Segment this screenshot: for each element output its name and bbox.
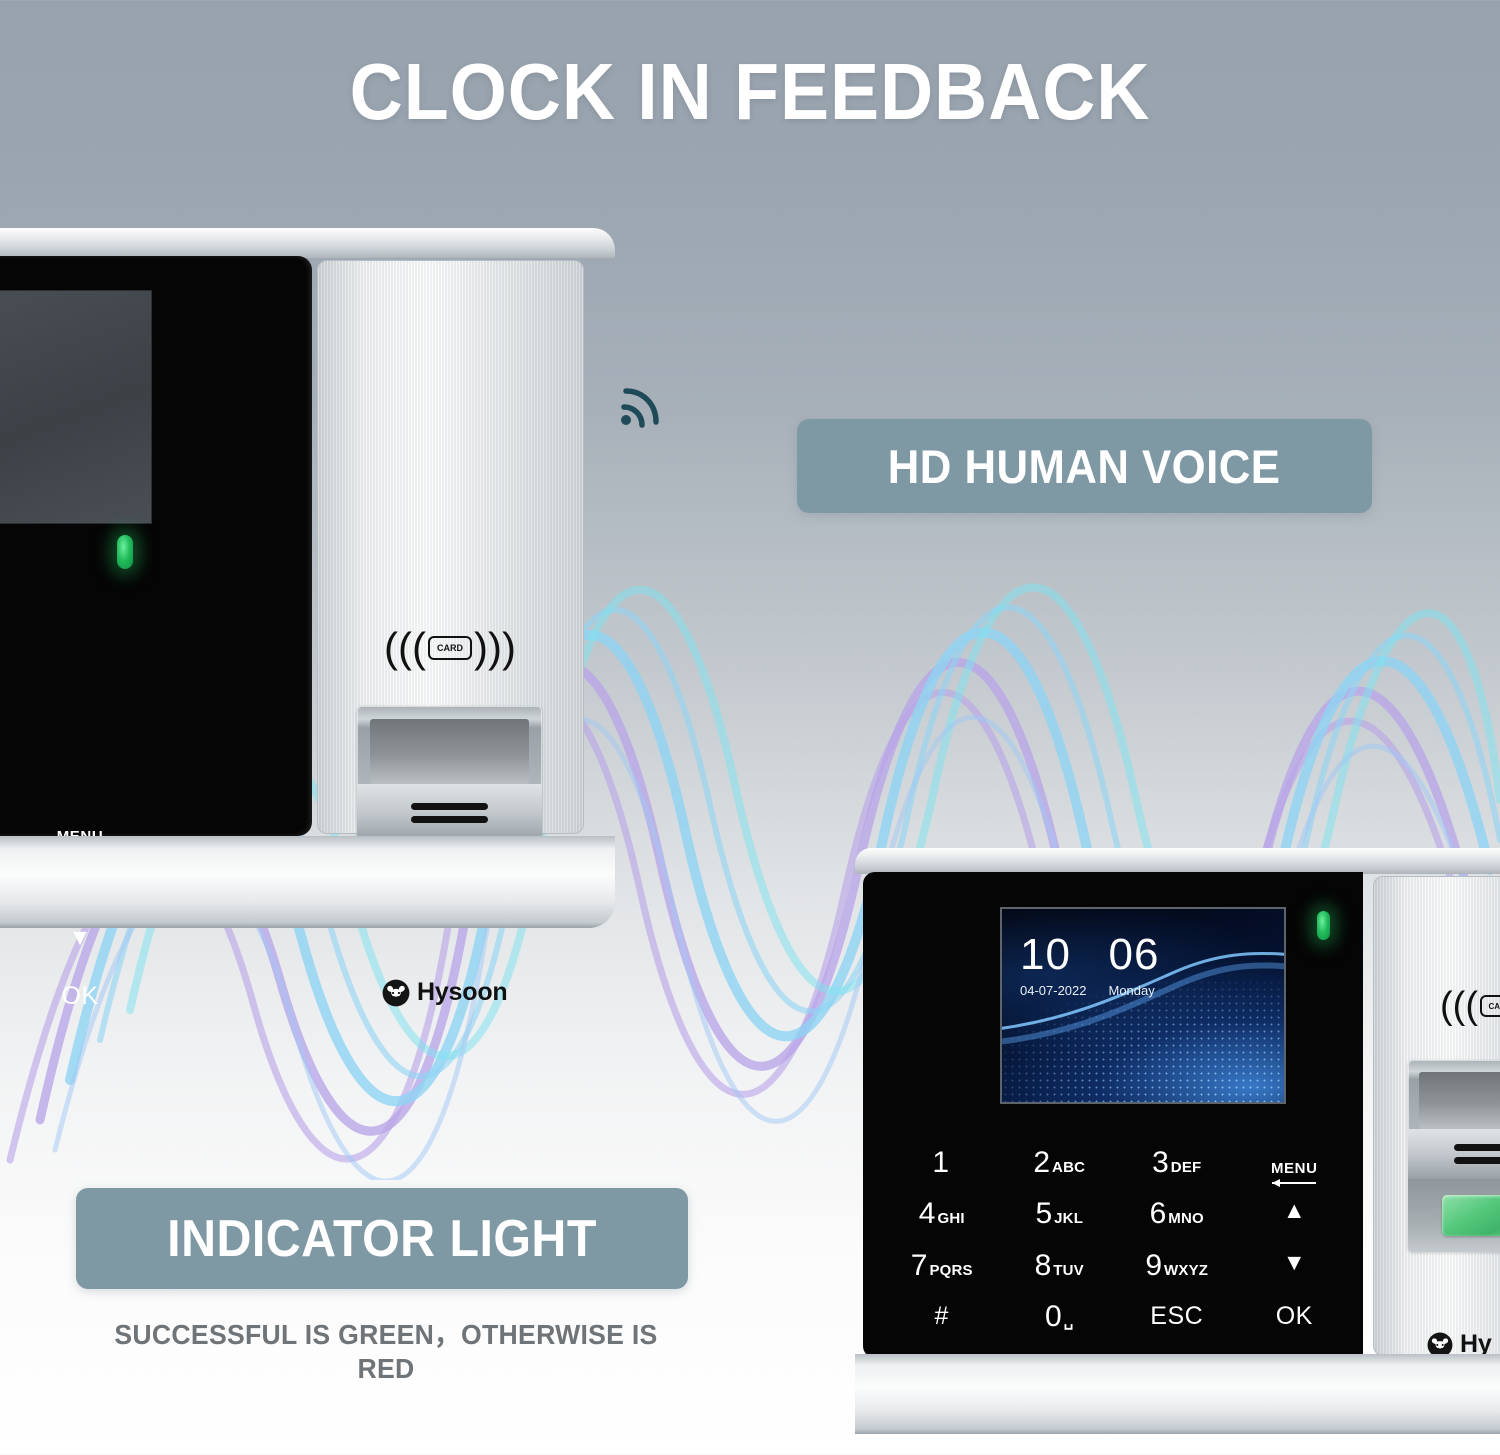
card-chip-icon: CARD bbox=[428, 636, 472, 660]
device-bottom-bezel-right bbox=[855, 1354, 1500, 1434]
indicator-light-caption: SUCCESSFUL IS GREEN，OTHERWISE IS RED bbox=[76, 1313, 696, 1385]
status-led-right bbox=[1317, 911, 1330, 940]
device-bottom-bezel-left bbox=[0, 836, 615, 928]
fp-upper-recess bbox=[1419, 1072, 1500, 1130]
page-title: CLOCK IN FEEDBACK bbox=[60, 52, 1440, 132]
key-esc[interactable]: ESC bbox=[1118, 1302, 1236, 1353]
lcd-date: 04-07-2022 bbox=[1020, 984, 1087, 997]
key-5[interactable]: 5JKL bbox=[1001, 1199, 1119, 1250]
key-9[interactable]: 9WXYZ bbox=[0, 926, 10, 982]
key-0[interactable]: 0␣ bbox=[1001, 1302, 1119, 1353]
triangle-up-icon: ▲ bbox=[1283, 1199, 1306, 1222]
sound-wave-icon bbox=[612, 376, 674, 436]
card-arc-left-icon: ((( bbox=[1440, 985, 1478, 1028]
speaker-slots bbox=[1408, 1129, 1500, 1179]
lcd-weekday: Monday bbox=[1109, 984, 1160, 997]
speaker-slot-1 bbox=[1454, 1144, 1500, 1151]
brand-logo-left: Hysoon bbox=[382, 978, 507, 1007]
rfid-card-icon-right: ((( CARD ))) bbox=[1430, 983, 1500, 1029]
fingerprint-time-clock-right: 10 04-07-2022 06 Monday 1 2ABC 3DEF bbox=[855, 848, 1500, 1455]
bull-head-icon bbox=[382, 979, 410, 1007]
key-4[interactable]: 4GHI bbox=[883, 1199, 1001, 1250]
speaker-slot-1 bbox=[411, 803, 489, 810]
badge-indicator-light: INDICATOR LIGHT bbox=[76, 1188, 688, 1289]
lcd-clock: 10 04-07-2022 06 Monday bbox=[1020, 933, 1159, 997]
device-top-bezel-right bbox=[855, 848, 1500, 874]
rfid-card-icon-left: ((( CARD ))) bbox=[380, 623, 520, 673]
brand-name-left: Hysoon bbox=[417, 978, 507, 1007]
card-arc-right-icon: ))) bbox=[474, 624, 516, 672]
key-1[interactable]: 1 bbox=[883, 1148, 1001, 1199]
key-ok[interactable]: OK bbox=[10, 982, 150, 1038]
device-lcd-left bbox=[0, 290, 152, 524]
key-3[interactable]: 3DEF bbox=[1118, 1148, 1236, 1199]
device-lcd-right: 10 04-07-2022 06 Monday bbox=[1000, 907, 1286, 1104]
key-hash[interactable]: # bbox=[883, 1302, 1001, 1353]
key-8[interactable]: 8TUV bbox=[1001, 1251, 1119, 1302]
fingerprint-time-clock-left: 3DEF MENU 6MNO ▲ 9WXYZ ▼ ESC OK bbox=[0, 228, 630, 943]
card-chip-icon: CARD bbox=[1480, 995, 1500, 1017]
speaker-slot-2 bbox=[411, 816, 489, 823]
key-down[interactable]: ▼ bbox=[1236, 1251, 1354, 1302]
speaker-slot-2 bbox=[1454, 1157, 1500, 1164]
speaker-slots bbox=[357, 784, 542, 841]
key-7[interactable]: 7PQRS bbox=[883, 1251, 1001, 1302]
card-arc-left-icon: ((( bbox=[384, 624, 426, 672]
key-2[interactable]: 2ABC bbox=[1001, 1148, 1119, 1199]
keypad-right[interactable]: 1 2ABC 3DEF MENU 4GHI 5JKL 6MNO ▲ 7PQRS … bbox=[883, 1148, 1353, 1353]
triangle-down-icon: ▼ bbox=[1283, 1251, 1306, 1274]
key-9[interactable]: 9WXYZ bbox=[1118, 1251, 1236, 1302]
fingerprint-pad[interactable] bbox=[1442, 1195, 1500, 1235]
key-menu[interactable]: MENU bbox=[1236, 1148, 1354, 1199]
key-up[interactable]: ▲ bbox=[1236, 1199, 1354, 1250]
device-top-bezel-left bbox=[0, 228, 615, 258]
key-ok[interactable]: OK bbox=[1236, 1302, 1354, 1353]
menu-arrow-icon bbox=[1272, 1179, 1316, 1187]
triangle-down-icon: ▼ bbox=[69, 926, 92, 949]
key-6[interactable]: 6MNO bbox=[1118, 1199, 1236, 1250]
fp-upper-recess bbox=[370, 719, 529, 784]
badge-hd-human-voice: HD HUMAN VOICE bbox=[797, 419, 1372, 513]
lcd-hours: 10 bbox=[1020, 933, 1087, 977]
key-esc[interactable]: ESC bbox=[0, 982, 10, 1038]
lcd-minutes: 06 bbox=[1109, 933, 1160, 977]
fingerprint-sensor-right[interactable] bbox=[1408, 1060, 1500, 1252]
product-feature-image: CLOCK IN FEEDBACK 3DEF MENU bbox=[0, 0, 1500, 1455]
status-led-left bbox=[117, 535, 133, 569]
key-down[interactable]: ▼ bbox=[10, 926, 150, 982]
fp-lower-recess bbox=[1408, 1179, 1500, 1252]
